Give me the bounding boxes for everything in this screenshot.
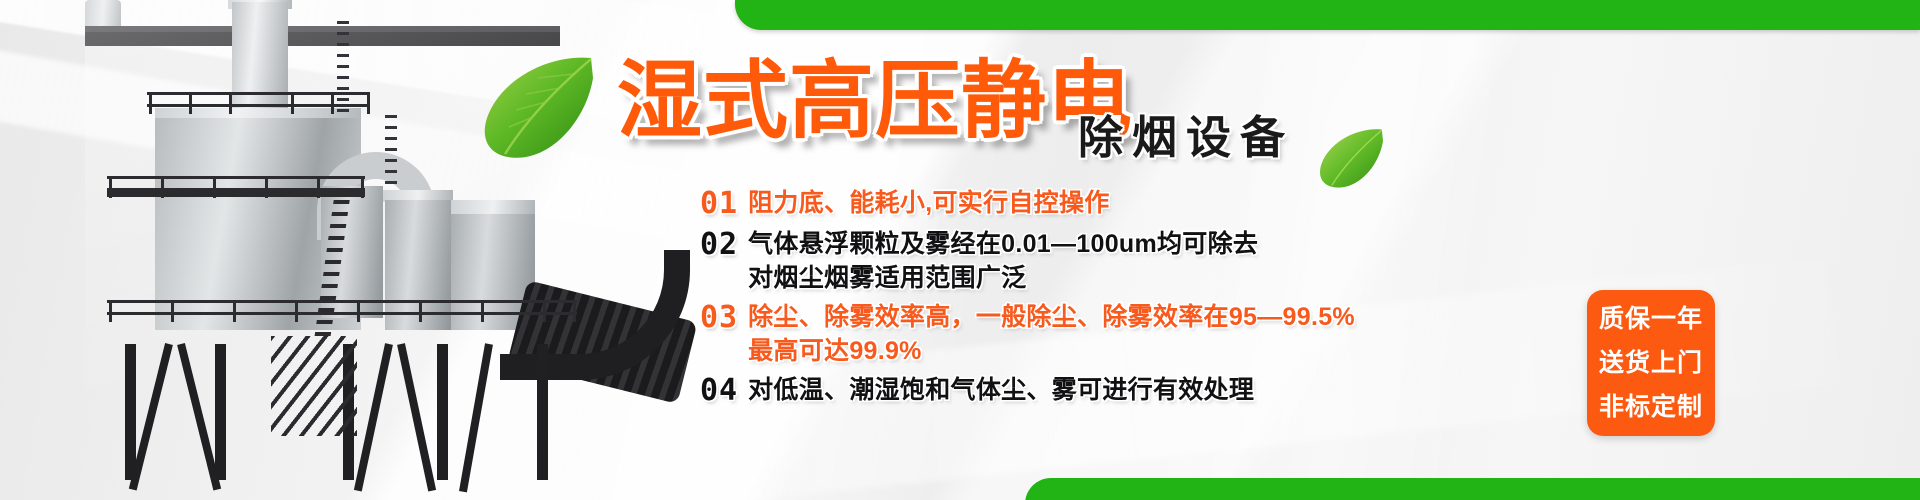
chimney-stack — [232, 2, 288, 112]
feature-item-03: 03 除尘、除雾效率高，一般除尘、除雾效率在95—99.5% 最高可达99.9% — [700, 300, 1580, 368]
railing — [107, 300, 577, 303]
railing-post — [161, 176, 164, 198]
page-title: 湿式高压静电 — [617, 56, 1133, 148]
railing — [107, 176, 365, 179]
support-leg — [537, 344, 548, 480]
promo-banner: 湿式高压静电 除烟设备 01 阻力底、能耗小,可实行自控操作 02 气体悬浮颗粒… — [0, 0, 1920, 500]
railing-post — [233, 300, 236, 322]
feature-item-04: 04 对低温、潮湿饱和气体尘、雾可进行有效处理 — [700, 373, 1580, 409]
railing — [147, 104, 369, 107]
green-bar-bottom — [1025, 478, 1920, 500]
railing-post — [213, 176, 216, 198]
railing-post — [361, 176, 364, 198]
railing-post — [317, 176, 320, 198]
railing-post — [331, 92, 334, 114]
feature-line: 对烟尘烟雾适用范围广泛 — [748, 261, 1258, 295]
feature-body: 除尘、除雾效率高，一般除尘、除雾效率在95—99.5% 最高可达99.9% — [748, 300, 1355, 368]
railing-post — [543, 300, 546, 322]
green-bar-top — [735, 0, 1920, 30]
railing-post — [189, 92, 192, 114]
railing-post — [149, 92, 152, 114]
railing — [107, 312, 577, 315]
railing-post — [295, 300, 298, 322]
feature-body: 阻力底、能耗小,可实行自控操作 — [748, 186, 1109, 220]
feature-number: 04 — [700, 373, 738, 409]
railing-post — [367, 92, 370, 114]
feature-line: 气体悬浮颗粒及雾经在0.01—100um均可除去 — [748, 227, 1258, 261]
railing-post — [291, 92, 294, 114]
feature-number: 01 — [700, 186, 738, 222]
badge-line-2: 送货上门 — [1599, 341, 1703, 385]
feature-item-01: 01 阻力底、能耗小,可实行自控操作 — [700, 186, 1580, 222]
badge-line-1: 质保一年 — [1599, 297, 1703, 341]
feature-line: 最高可达99.9% — [748, 334, 1355, 368]
railing-post — [171, 300, 174, 322]
railing-post — [481, 300, 484, 322]
feature-line: 对低温、潮湿饱和气体尘、雾可进行有效处理 — [748, 373, 1254, 407]
railing-post — [265, 176, 268, 198]
feature-number: 02 — [700, 227, 738, 263]
railing-post — [109, 176, 112, 198]
railing-post — [357, 300, 360, 322]
feature-list: 01 阻力底、能耗小,可实行自控操作 02 气体悬浮颗粒及雾经在0.01—100… — [700, 186, 1580, 414]
support-leg — [125, 344, 136, 480]
badge-line-3: 非标定制 — [1599, 385, 1703, 429]
leaf-icon — [478, 52, 598, 162]
feature-line: 阻力底、能耗小,可实行自控操作 — [748, 186, 1109, 220]
railing-post — [419, 300, 422, 322]
page-subtitle: 除烟设备 — [1078, 113, 1294, 163]
vessel-a — [385, 200, 451, 330]
ladder — [337, 20, 349, 112]
feature-body: 对低温、潮湿饱和气体尘、雾可进行有效处理 — [748, 373, 1254, 407]
feature-number: 03 — [700, 300, 738, 336]
support-leg — [437, 344, 448, 480]
feature-body: 气体悬浮颗粒及雾经在0.01—100um均可除去 对烟尘烟雾适用范围广泛 — [748, 227, 1258, 295]
railing-post — [109, 300, 112, 322]
leaf-icon-small — [1316, 126, 1386, 190]
railing-post — [573, 300, 576, 322]
feature-item-02: 02 气体悬浮颗粒及雾经在0.01—100um均可除去 对烟尘烟雾适用范围广泛 — [700, 227, 1580, 295]
railing — [147, 92, 369, 95]
ladder — [385, 110, 397, 184]
support-leg — [215, 344, 226, 480]
feature-line: 除尘、除雾效率高，一般除尘、除雾效率在95—99.5% — [748, 300, 1355, 334]
product-photo — [85, 0, 705, 480]
railing-post — [229, 92, 232, 114]
ground-stairs — [271, 336, 357, 436]
guarantee-badge[interactable]: 质保一年 送货上门 非标定制 — [1587, 290, 1715, 436]
mid-platform — [107, 190, 365, 197]
